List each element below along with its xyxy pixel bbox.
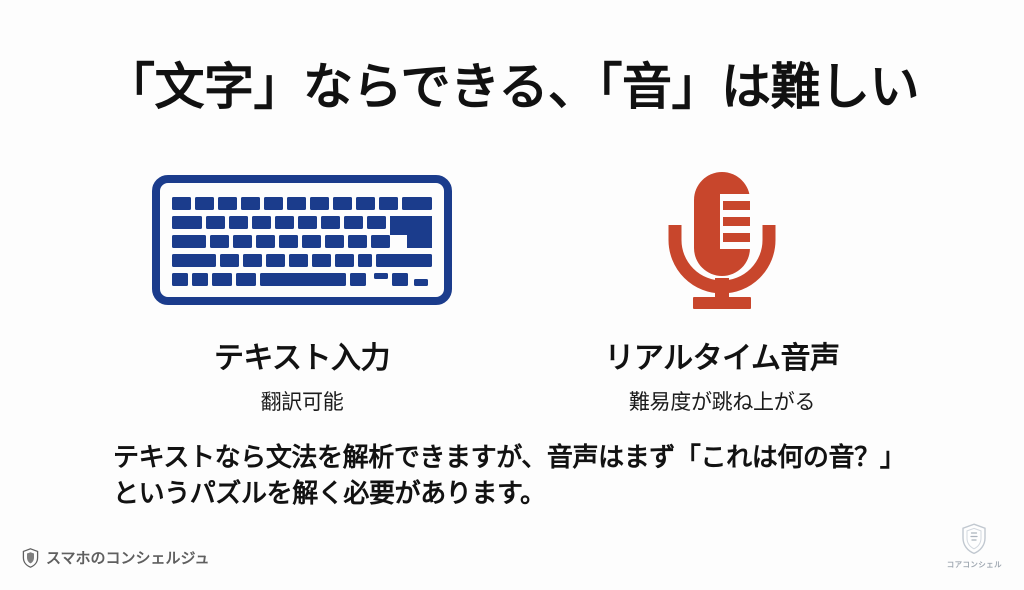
shield-logo-icon (961, 523, 987, 555)
keyboard-icon-container (152, 165, 452, 315)
watermark: スマホのコンシェルジュ (22, 547, 210, 568)
body-line-1: テキストなら文法を解析できますが、音声はまず「これは何の音？」 (113, 440, 943, 476)
microphone-icon (647, 168, 797, 313)
slide-canvas: 「文字」ならできる、「音」は難しい (0, 0, 1024, 590)
keyboard-icon (152, 175, 452, 305)
column-sublabel-realtime-voice: 難易度が跳ね上がる (629, 386, 815, 416)
body-line-2: というパズルを解く必要があります。 (113, 476, 943, 512)
watermark-label: スマホのコンシェルジュ (46, 547, 210, 568)
page-title: 「文字」ならできる、「音」は難しい (0, 60, 1024, 115)
column-sublabel-text-input: 翻訳可能 (261, 386, 344, 416)
brand-logo-label: コアコンシェル (947, 559, 1002, 570)
column-text-input: テキスト入力 翻訳可能 (92, 165, 512, 416)
brand-logo: コアコンシェル (947, 523, 1002, 570)
column-label-realtime-voice: リアルタイム音声 (604, 333, 839, 377)
body-paragraph: テキストなら文法を解析できますが、音声はまず「これは何の音？」 というパズルを解… (113, 440, 943, 512)
comparison-columns: テキスト入力 翻訳可能 (0, 165, 1024, 416)
microphone-icon-container (647, 165, 797, 315)
shield-icon (22, 548, 39, 568)
column-label-text-input: テキスト入力 (214, 333, 390, 377)
column-realtime-voice: リアルタイム音声 難易度が跳ね上がる (512, 165, 932, 416)
